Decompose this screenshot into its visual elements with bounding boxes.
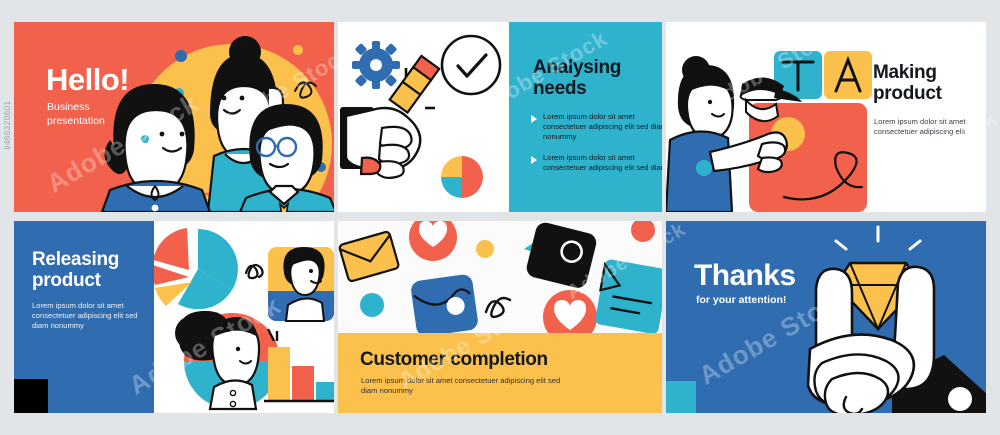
black-square-accent	[14, 379, 48, 413]
envelope-icon	[339, 231, 399, 282]
list-item: Lorem ipsum dolor sit amet consectetuer …	[531, 153, 662, 173]
wallet-blue-icon	[410, 273, 479, 337]
slide-title: Thanks	[694, 259, 795, 293]
slide-body-text: Lorem ipsum dolor sit amet consectetuer …	[32, 301, 138, 332]
slide-body-text: Lorem ipsum dolor sit amet consectetuer …	[874, 117, 979, 137]
slide-hello[interactable]: Hello! Business presentation	[14, 22, 334, 212]
wallet-black-icon	[525, 221, 599, 290]
slide-thanks[interactable]: Thanks for your attention!	[666, 221, 986, 413]
hand-pencil-illustration	[338, 22, 523, 212]
slide-body-text: Lorem ipsum dolor sit amet consectetuer …	[361, 376, 561, 397]
dot-yellow	[476, 240, 494, 258]
dot-coral	[631, 221, 655, 242]
pie-chart-icon	[154, 228, 238, 309]
slide-subtitle: for your attention!	[696, 294, 786, 306]
slide-title: Hello!	[46, 62, 129, 98]
list-item: Lorem ipsum dolor sit amet consectetuer …	[531, 112, 662, 143]
slide-customer-completion[interactable]: Customer completion Lorem ipsum dolor si…	[338, 221, 662, 413]
triangle-bullet-icon	[531, 156, 537, 164]
bar-chart	[264, 329, 334, 401]
gear-icon	[352, 41, 400, 89]
slide-subtitle: Business presentation	[47, 100, 105, 128]
pie-chart-icon	[441, 156, 483, 198]
avatar-card	[268, 247, 334, 321]
dot-cyan	[360, 293, 384, 317]
slide-making-product[interactable]: Making product Lorem ipsum dolor sit ame…	[666, 22, 986, 212]
bullet-list: Lorem ipsum dolor sit amet consectetuer …	[531, 112, 662, 183]
slide-releasing-product[interactable]: Releasing product Lorem ipsum dolor sit …	[14, 221, 334, 413]
scattered-icons-illustration	[338, 221, 662, 342]
bullet-text: Lorem ipsum dolor sit amet consectetuer …	[543, 112, 662, 143]
note-icon	[595, 259, 662, 335]
heart-badge-icon	[409, 221, 457, 261]
avatar-circle	[175, 311, 280, 409]
stock-id-label: #466320601	[3, 101, 12, 151]
yellow-band	[338, 333, 662, 413]
slide-analysing-needs[interactable]: Analysing needs Lorem ipsum dolor sit am…	[338, 22, 662, 212]
slide-deck: Hello! Business presentation	[0, 0, 1000, 435]
making-product-illustration	[666, 22, 876, 212]
hand-diamond-illustration	[788, 221, 986, 413]
slide-title: Customer completion	[360, 349, 548, 371]
teal-square-accent	[666, 381, 696, 413]
releasing-product-illustration	[154, 221, 334, 413]
checkmark-icon	[442, 36, 500, 94]
bullet-text: Lorem ipsum dolor sit amet consectetuer …	[543, 153, 662, 173]
slide-title: Making product	[873, 62, 983, 104]
slide-title: Analysing needs	[533, 57, 662, 99]
triangle-bullet-icon	[531, 115, 537, 123]
slide-title: Releasing product	[32, 249, 152, 291]
